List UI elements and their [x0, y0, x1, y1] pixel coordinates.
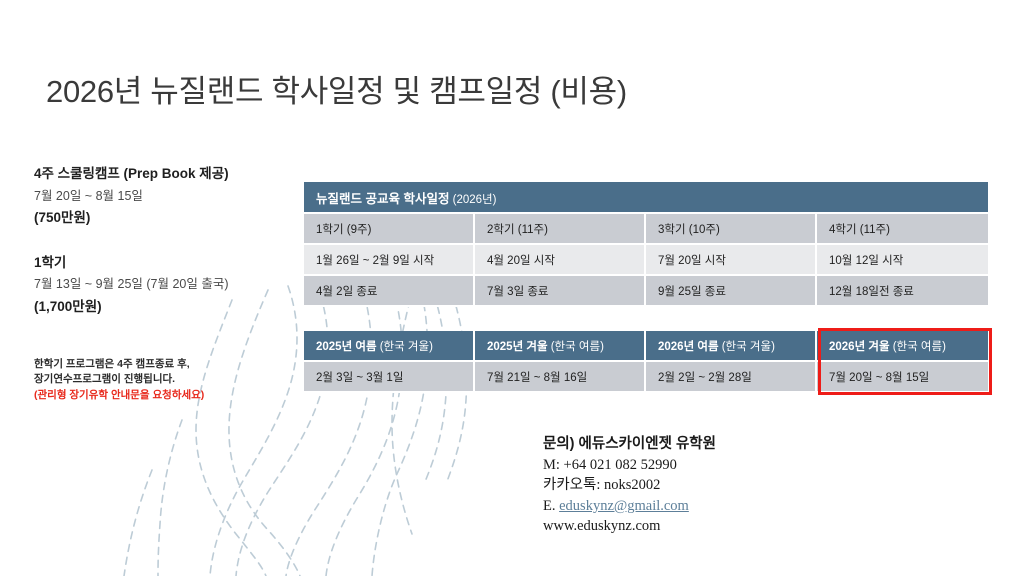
note-line-1: 한학기 프로그램은 4주 캠프종료 후,	[34, 357, 304, 372]
season-dates-2: 7월 21일 ~ 8월 16일	[475, 362, 646, 393]
season-dates-4: 7월 20일 ~ 8월 15일	[817, 362, 988, 393]
camp-price: (750만원)	[34, 208, 294, 228]
season-dates-3: 2월 2일 ~ 2월 28일	[646, 362, 817, 393]
academic-start-2: 4월 20일 시작	[475, 245, 646, 276]
season-col-year-2: 2025년 겨울	[487, 341, 548, 353]
table-title-row: 뉴질랜드 공교육 학사일정 (2026년)	[304, 182, 988, 214]
season-col-note-1: (한국 겨울)	[377, 341, 433, 353]
left-info-column: 4주 스쿨링캠프 (Prep Book 제공) 7월 20일 ~ 8월 15일 …	[34, 164, 294, 319]
academic-col-header-1: 1학기 (9주)	[304, 214, 475, 245]
contact-block: 문의) 에듀스카이엔젯 유학원 M: +64 021 082 52990 카카오…	[543, 434, 716, 537]
season-schedule-table: 2025년 여름 (한국 겨울) 2025년 겨울 (한국 여름) 2026년 …	[304, 331, 988, 393]
academic-col-weeks-4: (11주)	[857, 224, 890, 236]
academic-end-1: 4월 2일 종료	[304, 276, 475, 307]
semester-dates: 7월 13일 ~ 9월 25일 (7월 20일 출국)	[34, 275, 294, 294]
table-row: 1월 26일 ~ 2월 9일 시작 4월 20일 시작 7월 20일 시작 10…	[304, 245, 988, 276]
academic-col-header-3: 3학기 (10주)	[646, 214, 817, 245]
contact-website: www.eduskynz.com	[543, 516, 716, 537]
semester-program-block: 1학기 7월 13일 ~ 9월 25일 (7월 20일 출국) (1,700만원…	[34, 253, 294, 318]
slide-canvas: 2026년 뉴질랜드 학사일정 및 캠프일정 (비용) 4주 스쿨링캠프 (Pr…	[0, 0, 1024, 576]
academic-col-name-2: 2학기	[487, 224, 515, 236]
page-title: 2026년 뉴질랜드 학사일정 및 캠프일정 (비용)	[46, 66, 627, 111]
academic-col-weeks-2: (11주)	[515, 224, 548, 236]
academic-end-4: 12월 18일전 종료	[817, 276, 988, 307]
academic-col-name-1: 1학기	[316, 224, 344, 236]
program-note-block: 한학기 프로그램은 4주 캠프종료 후, 장기연수프로그램이 진행됩니다. (관…	[34, 357, 304, 403]
semester-price: (1,700만원)	[34, 297, 294, 317]
academic-end-3: 9월 25일 종료	[646, 276, 817, 307]
season-col-note-4: (한국 여름)	[890, 341, 946, 353]
season-col-header-2: 2025년 겨울 (한국 여름)	[475, 331, 646, 362]
academic-start-4: 10월 12일 시작	[817, 245, 988, 276]
camp-dates: 7월 20일 ~ 8월 15일	[34, 187, 294, 206]
contact-kakao: 카카오톡: noks2002	[543, 475, 716, 496]
semester-title: 1학기	[34, 253, 294, 273]
academic-end-2: 7월 3일 종료	[475, 276, 646, 307]
contact-email-row: E. eduskynz@gmail.com	[543, 496, 716, 517]
academic-col-header-2: 2학기 (11주)	[475, 214, 646, 245]
season-col-header-1: 2025년 여름 (한국 겨울)	[304, 331, 475, 362]
table-row: 4월 2일 종료 7월 3일 종료 9월 25일 종료 12월 18일전 종료	[304, 276, 988, 307]
contact-mobile: M: +64 021 082 52990	[543, 455, 716, 476]
table-header-row: 1학기 (9주) 2학기 (11주) 3학기 (10주) 4학기 (11주)	[304, 214, 988, 245]
academic-table-title: 뉴질랜드 공교육 학사일정 (2026년)	[304, 182, 988, 214]
season-col-note-3: (한국 겨울)	[719, 341, 775, 353]
season-col-header-4: 2026년 겨울 (한국 여름)	[817, 331, 988, 362]
camp-program-block: 4주 스쿨링캠프 (Prep Book 제공) 7월 20일 ~ 8월 15일 …	[34, 164, 294, 229]
contact-email-link[interactable]: eduskynz@gmail.com	[559, 498, 689, 514]
table-header-row: 2025년 여름 (한국 겨울) 2025년 겨울 (한국 여름) 2026년 …	[304, 331, 988, 362]
season-col-year-3: 2026년 여름	[658, 341, 719, 353]
academic-col-weeks-1: (9주)	[344, 224, 372, 236]
academic-start-1: 1월 26일 ~ 2월 9일 시작	[304, 245, 475, 276]
academic-calendar-table: 뉴질랜드 공교육 학사일정 (2026년) 1학기 (9주) 2학기 (11주)…	[304, 182, 988, 307]
note-warning: (관리형 장기유학 안내문을 요청하세요)	[34, 388, 304, 403]
academic-col-header-4: 4학기 (11주)	[817, 214, 988, 245]
table-row: 2월 3일 ~ 3월 1일 7월 21일 ~ 8월 16일 2월 2일 ~ 2월…	[304, 362, 988, 393]
academic-col-name-4: 4학기	[829, 224, 857, 236]
note-line-2: 장기연수프로그램이 진행됩니다.	[34, 372, 304, 387]
season-col-header-3: 2026년 여름 (한국 겨울)	[646, 331, 817, 362]
season-col-note-2: (한국 여름)	[548, 341, 604, 353]
contact-email-prefix: E.	[543, 498, 559, 514]
camp-title: 4주 스쿨링캠프 (Prep Book 제공)	[34, 164, 294, 184]
contact-agency-name: 문의) 에듀스카이엔젯 유학원	[543, 434, 716, 455]
season-dates-1: 2월 3일 ~ 3월 1일	[304, 362, 475, 393]
academic-col-weeks-3: (10주)	[686, 224, 720, 236]
season-col-year-4: 2026년 겨울	[829, 341, 890, 353]
academic-table-title-sub: (2026년)	[449, 194, 496, 206]
academic-table-title-main: 뉴질랜드 공교육 학사일정	[316, 192, 449, 206]
academic-start-3: 7월 20일 시작	[646, 245, 817, 276]
academic-col-name-3: 3학기	[658, 224, 686, 236]
season-col-year-1: 2025년 여름	[316, 341, 377, 353]
